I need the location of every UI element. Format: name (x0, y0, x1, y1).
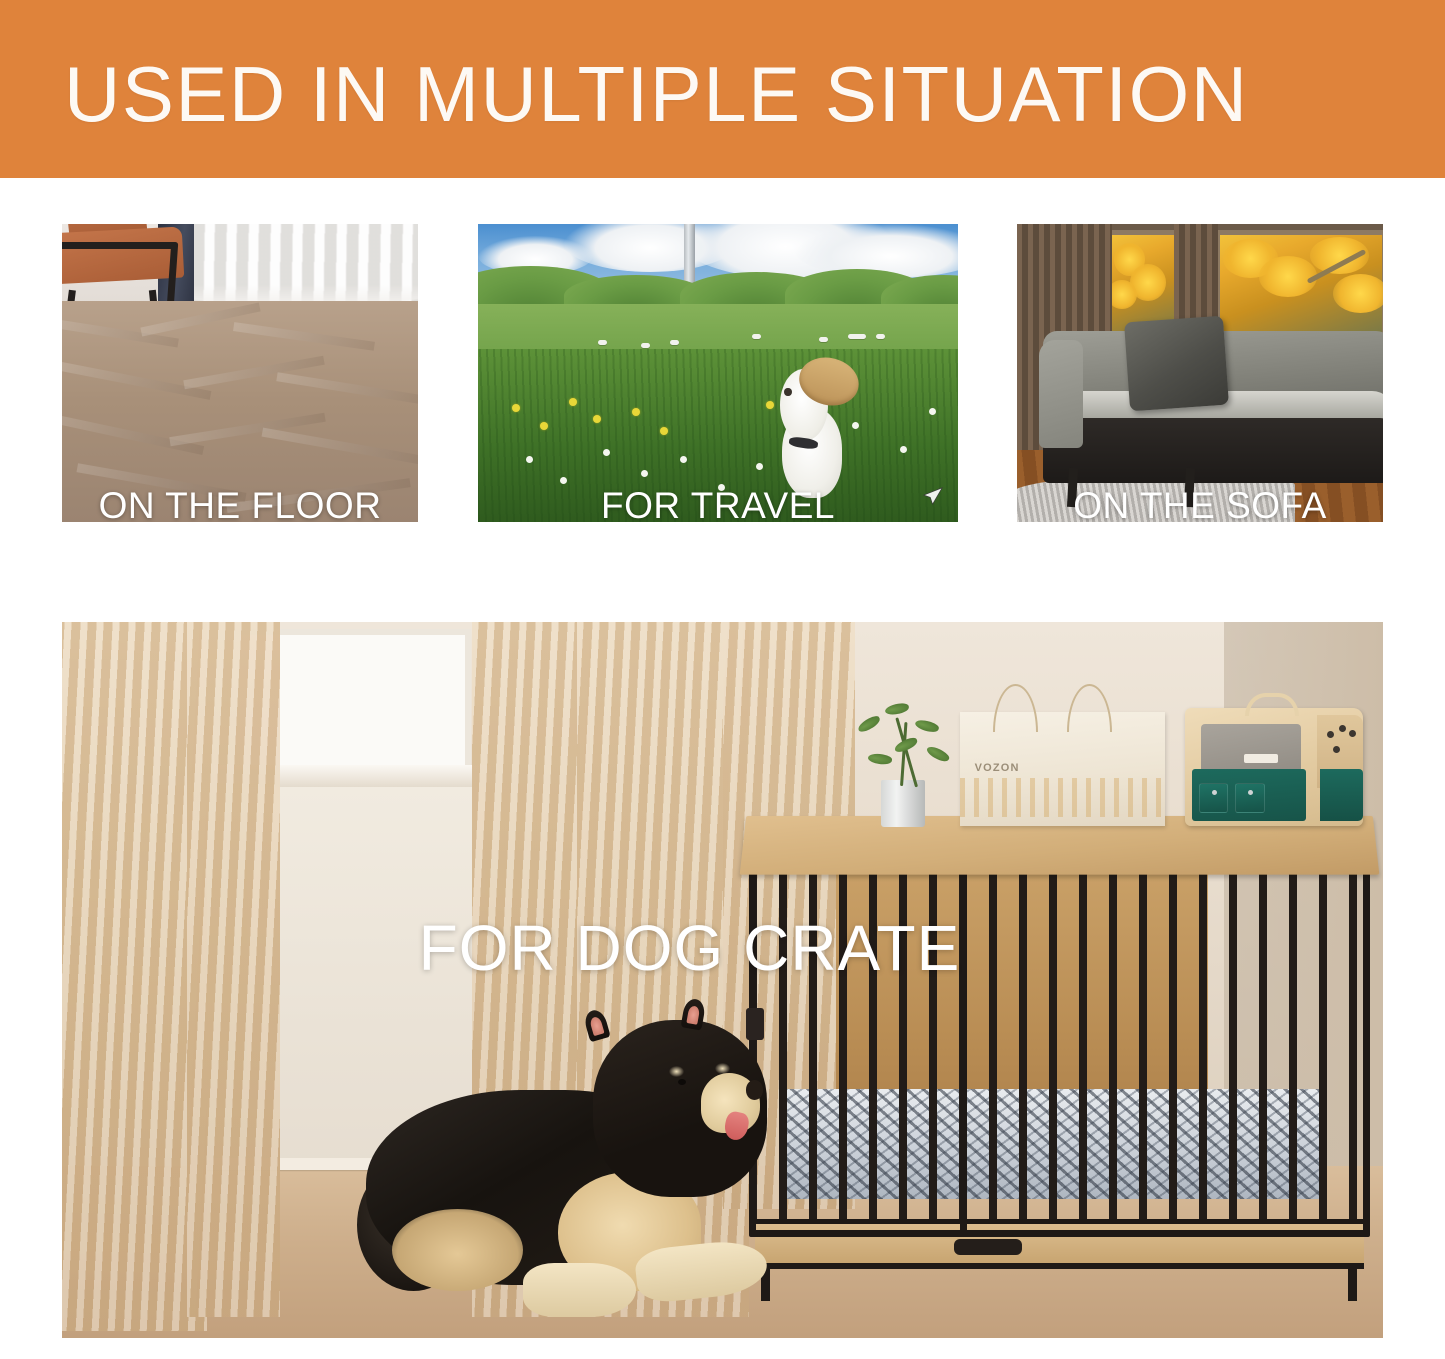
floor-scene-image (62, 224, 418, 522)
dog-ear (582, 1008, 610, 1043)
armchair-frame (62, 242, 178, 308)
dog-nose (746, 1080, 763, 1099)
dog-ear (681, 998, 707, 1031)
dog-front-paw (523, 1263, 636, 1317)
dog-flank-marking (392, 1209, 523, 1291)
carrier-pocket (1235, 783, 1265, 813)
thumbnail-label: ON THE FLOOR (62, 484, 418, 522)
dog-snout (784, 388, 792, 397)
thumbnail-on-the-floor[interactable]: ON THE FLOOR (62, 224, 418, 522)
dog-crate-furniture (749, 815, 1370, 1273)
travel-scene-image (478, 224, 958, 522)
sheer-curtain (187, 622, 279, 1317)
thumbnail-label: ON THE SOFA (1017, 484, 1383, 522)
paper-shopping-bag: VOZON (960, 712, 1165, 827)
sofa-cushion (1124, 316, 1229, 412)
dog-head (593, 1020, 767, 1196)
sofa-scene-image (1017, 224, 1383, 522)
thumbnail-label: FOR TRAVEL (478, 484, 958, 522)
window-right (1215, 230, 1383, 337)
carrier-pocket (1199, 783, 1229, 813)
sofa-base (1043, 418, 1383, 484)
sheer-curtain (62, 622, 207, 1331)
hero-title: FOR DOG CRATE (419, 916, 961, 980)
sofa-armrest (1039, 340, 1083, 447)
carrier-snap-button (1212, 790, 1217, 795)
crate-leg (1348, 1269, 1357, 1301)
bag-brand-text: VOZON (975, 762, 1020, 774)
thumbnail-for-travel[interactable]: FOR TRAVEL (478, 224, 958, 522)
malamute-dog (366, 1002, 802, 1317)
hero-image-for-dog-crate[interactable]: VOZON (62, 622, 1383, 1338)
plant-can (881, 780, 925, 827)
bag-pattern (960, 778, 1165, 817)
carrier-side-green (1320, 769, 1363, 821)
carrier-snap-button (1248, 790, 1253, 795)
crate-door-divider (960, 866, 967, 1237)
white-dog-with-hat (776, 361, 853, 498)
carrier-front-pockets (1192, 769, 1306, 821)
sheer-curtain (183, 224, 418, 304)
thumbnail-on-the-sofa[interactable]: ON THE SOFA (1017, 224, 1383, 522)
carrier-mesh-panel (1201, 724, 1301, 774)
carrier-brand-badge (1244, 754, 1278, 763)
crate-door-latch (954, 1239, 1022, 1255)
pet-carrier-bag (1185, 708, 1363, 826)
